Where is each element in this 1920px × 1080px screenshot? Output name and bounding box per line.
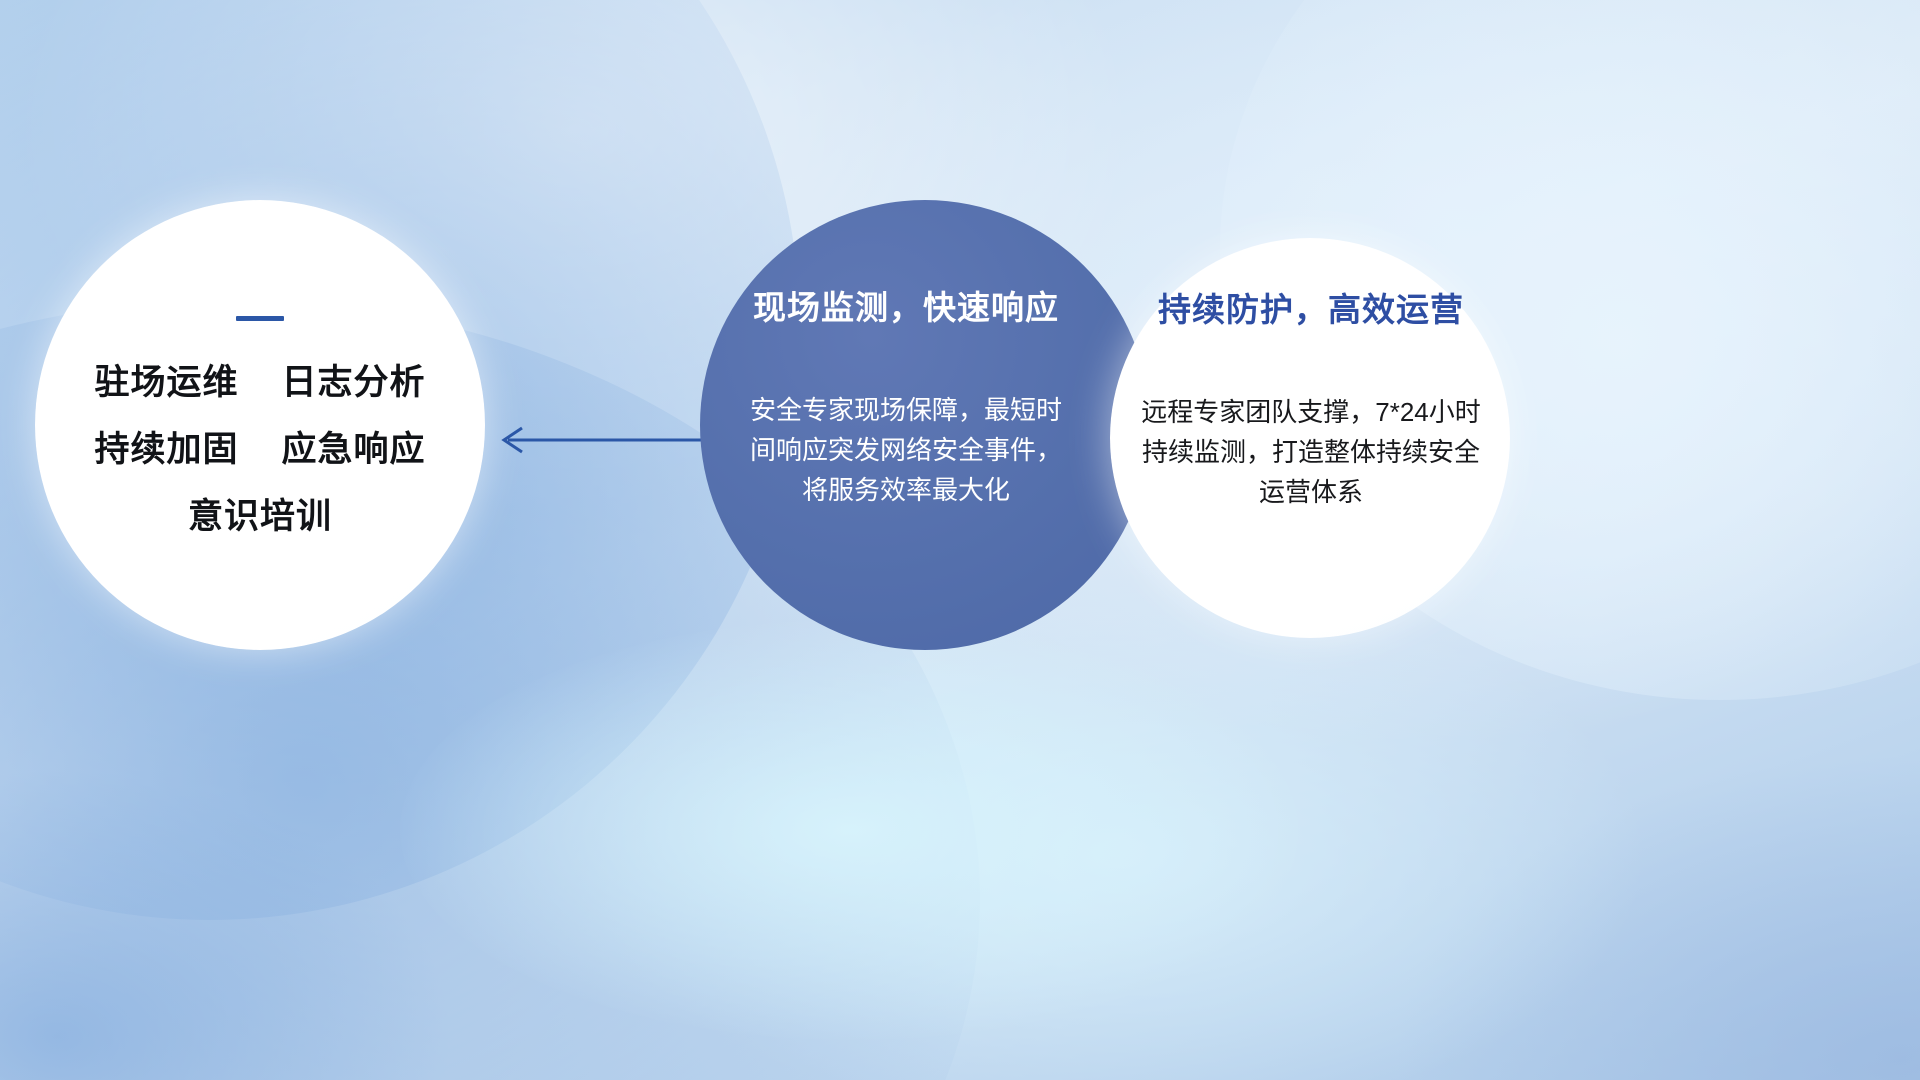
capabilities-content: 驻场运维 日志分析 持续加固 应急响应 意识培训: [35, 200, 485, 650]
capability-line-2: 持续加固 应急响应: [95, 432, 426, 467]
divider-dash: [236, 316, 284, 321]
continuous-protection-title: 持续防护，高效运营: [1126, 290, 1496, 330]
capability-line-3: 意识培训: [188, 499, 332, 534]
onsite-monitoring-content: 现场监测，快速响应 安全专家现场保障，最短时间响应突发网络安全事件，将服务效率最…: [726, 288, 1086, 510]
capability-line-1: 驻场运维 日志分析: [95, 365, 426, 400]
continuous-protection-body: 远程专家团队支撑，7*24小时持续监测，打造整体持续安全运营体系: [1126, 392, 1496, 513]
onsite-monitoring-title: 现场监测，快速响应: [726, 288, 1086, 328]
arrow-left-icon: [490, 415, 720, 465]
continuous-protection-content: 持续防护，高效运营 远程专家团队支撑，7*24小时持续监测，打造整体持续安全运营…: [1126, 290, 1496, 512]
background-glow-bottom: [400, 620, 1300, 1040]
capabilities-circle: 驻场运维 日志分析 持续加固 应急响应 意识培训: [35, 200, 485, 650]
onsite-monitoring-body: 安全专家现场保障，最短时间响应突发网络安全事件，将服务效率最大化: [726, 390, 1086, 511]
